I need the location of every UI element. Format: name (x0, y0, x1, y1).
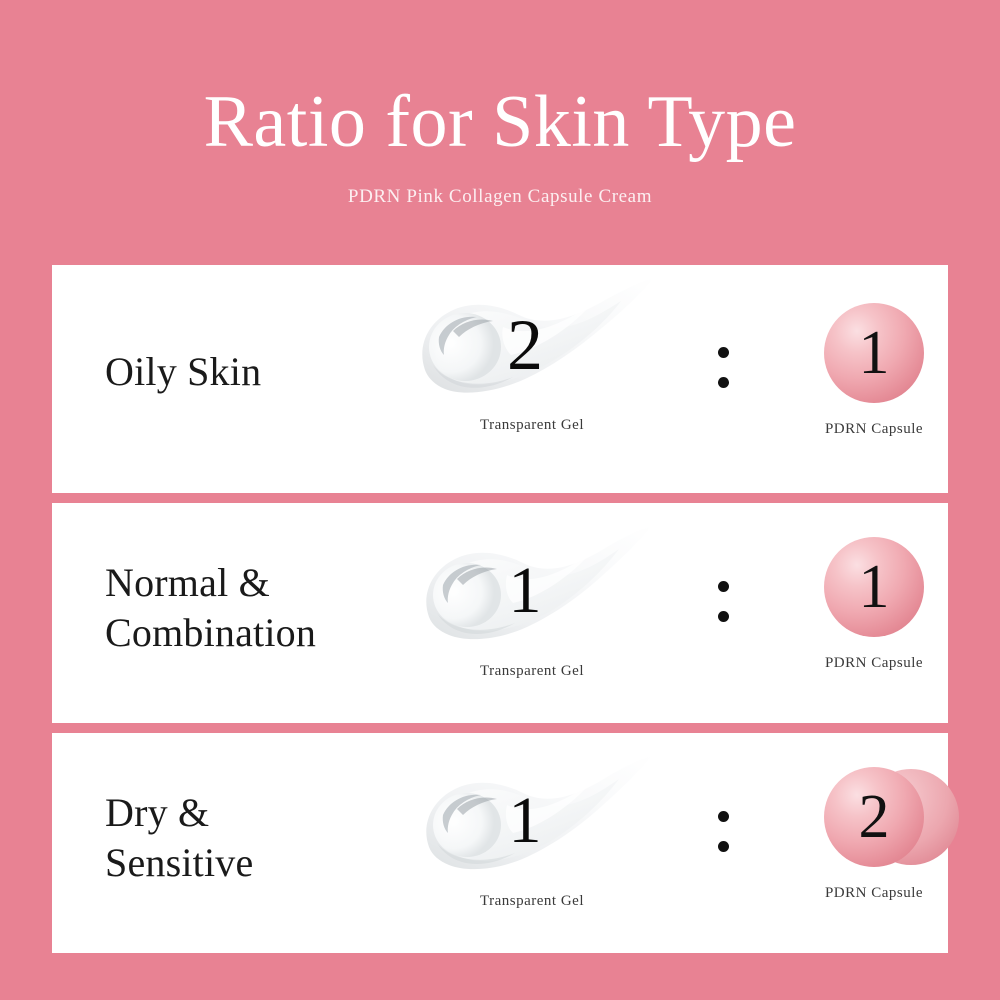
skin-type-label: Dry & Sensitive (105, 788, 435, 888)
gel-swatch-art: 2 (407, 275, 657, 415)
transparent-gel-group: 1 Transparent Gel (407, 751, 657, 910)
capsule-art: 1 (749, 287, 999, 419)
ratio-card-dry-sensitive: Dry & Sensitive (52, 733, 948, 953)
capsule-amount-number: 1 (824, 537, 924, 637)
capsule-amount-number: 1 (824, 303, 924, 403)
capsule-caption: PDRN Capsule (749, 655, 999, 672)
ratio-card-normal-combination: Normal & Combination (52, 503, 948, 723)
transparent-gel-group: 2 Transparent Gel (407, 275, 657, 434)
pdrn-capsule-group: 1 PDRN Capsule (749, 521, 999, 672)
transparent-gel-group: 1 Transparent Gel (407, 521, 657, 680)
gel-amount-number: 1 (407, 751, 657, 891)
colon-dot-upper (718, 811, 729, 822)
skin-type-label-line2: Combination (105, 608, 435, 658)
capsule-amount-number: 2 (824, 767, 924, 867)
capsule-caption: PDRN Capsule (749, 885, 999, 902)
colon-dot-lower (718, 841, 729, 852)
page-subtitle: PDRN Pink Collagen Capsule Cream (0, 185, 1000, 209)
skin-type-label: Oily Skin (105, 347, 435, 397)
colon-dot-upper (718, 581, 729, 592)
skin-type-label-line1: Normal & (105, 558, 435, 608)
colon-dot-lower (718, 377, 729, 388)
gel-amount-number: 2 (407, 275, 657, 415)
ratio-card-oily-skin: Oily Skin (52, 265, 948, 493)
gel-swatch-art: 1 (407, 521, 657, 661)
ratio-separator (713, 811, 733, 852)
gel-caption: Transparent Gel (407, 893, 657, 910)
gel-swatch-art: 1 (407, 751, 657, 891)
page-header: Ratio for Skin Type PDRN Pink Collagen C… (0, 0, 1000, 265)
capsule-art: 2 (749, 751, 999, 883)
pdrn-capsule-group: 1 PDRN Capsule (749, 287, 999, 438)
capsule-caption: PDRN Capsule (749, 421, 999, 438)
colon-dot-lower (718, 611, 729, 622)
capsule-art: 1 (749, 521, 999, 653)
colon-dot-upper (718, 347, 729, 358)
ratio-separator (713, 581, 733, 622)
gel-caption: Transparent Gel (407, 663, 657, 680)
skin-type-label-line1: Oily Skin (105, 347, 435, 397)
skin-type-label-line1: Dry & (105, 788, 435, 838)
gel-caption: Transparent Gel (407, 417, 657, 434)
page-title: Ratio for Skin Type (0, 78, 1000, 166)
skin-type-label-line2: Sensitive (105, 838, 435, 888)
pdrn-capsule-group: 2 PDRN Capsule (749, 751, 999, 902)
skin-type-label: Normal & Combination (105, 558, 435, 658)
ratio-separator (713, 347, 733, 388)
gel-amount-number: 1 (407, 521, 657, 661)
